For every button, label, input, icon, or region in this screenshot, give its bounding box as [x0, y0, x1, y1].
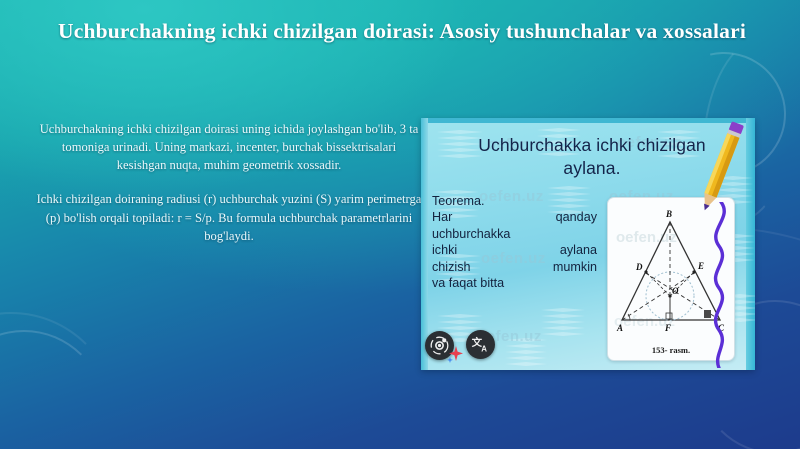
theorem-word: mumkin — [553, 259, 597, 275]
theorem-line: chizish mumkin — [432, 259, 597, 275]
theorem-line: va faqat bitta — [432, 275, 597, 291]
body-paragraph-2: Ichki chizilgan doiraning radiusi (r) uc… — [36, 190, 422, 244]
svg-text:A: A — [616, 323, 623, 333]
theorem-label: Teorema. — [432, 193, 597, 209]
sparkle-icon — [447, 345, 465, 363]
theorem-line: Har qanday — [432, 209, 597, 225]
svg-text:oefen.uz: oefen.uz — [616, 229, 677, 246]
photo-edge-top — [421, 118, 755, 123]
photo-heading: Uchburchakka ichki chizilgan aylana. — [467, 134, 717, 181]
theorem-word: chizish — [432, 259, 471, 275]
theorem-word: Har — [432, 209, 452, 225]
slide-title: Uchburchakning ichki chizilgan doirasi: … — [52, 18, 752, 46]
watermark-diamond — [541, 308, 585, 338]
translate-icon: 文 A — [471, 335, 490, 354]
decorative-arc — [0, 312, 118, 449]
presentation-slide: Uchburchakning ichki chizilgan doirasi: … — [0, 0, 800, 449]
watermark-diamond — [505, 338, 547, 368]
svg-text:D: D — [635, 262, 643, 272]
theorem-word: ichki — [432, 242, 457, 258]
theorem-word: aylana — [560, 242, 597, 258]
translate-button[interactable]: 文 A — [466, 330, 495, 359]
photo-edge-right — [746, 118, 755, 370]
theorem-line: ichki aylana — [432, 242, 597, 258]
svg-text:O: O — [672, 286, 679, 296]
svg-text:F: F — [664, 323, 671, 333]
theorem-line: uchburchakka — [432, 226, 597, 242]
photo-theorem-text: Teorema. Har qanday uchburchakka ichki a… — [432, 193, 597, 292]
svg-text:A: A — [481, 345, 487, 354]
svg-text:B: B — [665, 209, 672, 219]
body-paragraph-1: Uchburchakning ichki chizilgan doirasi u… — [36, 120, 422, 174]
slide-body-text: Uchburchakning ichki chizilgan doirasi u… — [36, 120, 422, 245]
decorative-arc — [0, 330, 106, 449]
theorem-word: qanday — [556, 209, 597, 225]
squiggle-line — [703, 202, 737, 368]
photo-edge-left — [421, 118, 428, 370]
